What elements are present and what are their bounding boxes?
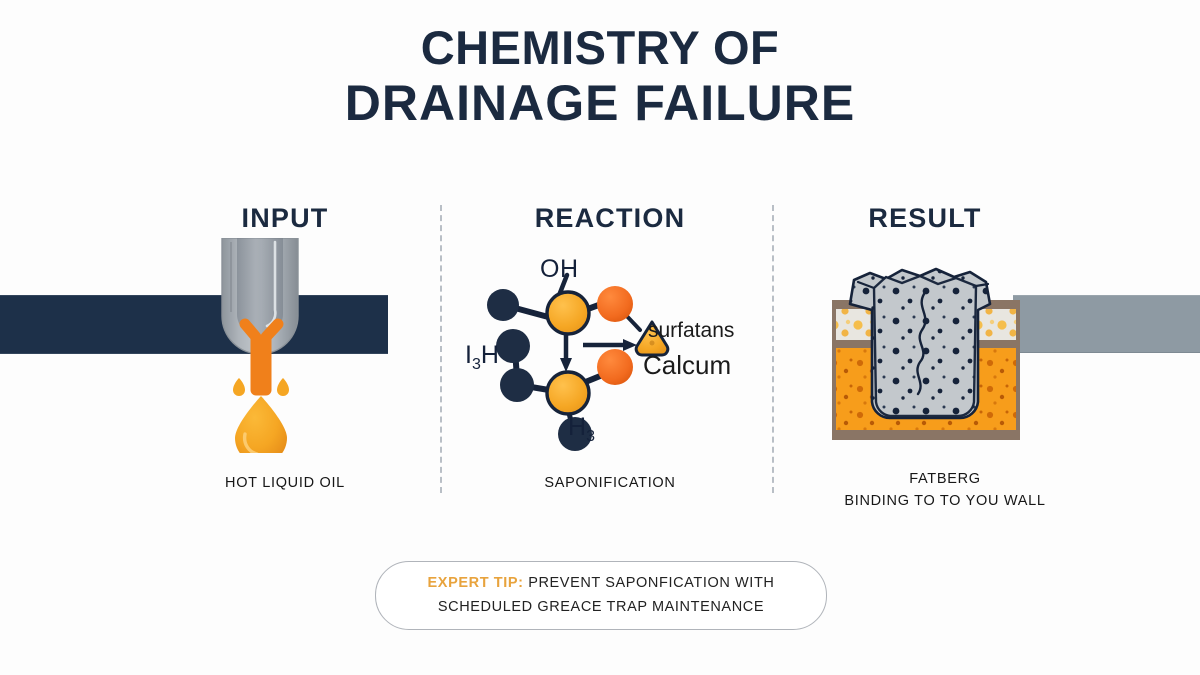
column-divider-2: [772, 205, 774, 493]
expert-tip-text: EXPERT TIP: PREVENT SAPONFICATION WITH S…: [402, 572, 801, 620]
infographic-canvas: CHEMISTRY OF DRAINAGE FAILURE INPUT REAC…: [0, 0, 1200, 675]
label-bottom-chain: H3: [568, 413, 595, 446]
column-divider-1: [440, 205, 442, 493]
molecule-node-dark: [496, 329, 530, 363]
expert-tip-label: EXPERT TIP:: [428, 575, 524, 591]
caption-result-line-2: BINDING TO TO YOU WALL: [820, 490, 1070, 512]
label-calcium: Calcum: [643, 350, 731, 381]
title-line-1: CHEMISTRY OF: [421, 21, 780, 74]
pipe-dripping-oil-icon: [193, 238, 413, 453]
caption-result-line-1: FATBERG: [820, 468, 1070, 490]
molecule-node-dark: [487, 289, 519, 321]
label-surfactants: surfatans: [648, 319, 734, 343]
molecule-node-orange: [597, 286, 633, 322]
column-header-input: INPUT: [185, 203, 385, 234]
label-hydroxyl: OH: [540, 255, 579, 284]
expert-tip-line-1: PREVENT SAPONFICATION WITH: [524, 575, 775, 591]
expert-tip-line-2: SCHEDULED GREACE TRAP MAINTENANCE: [438, 599, 764, 615]
molecule-node-amber: [547, 372, 589, 414]
caption-input: HOT LIQUID OIL: [175, 472, 395, 494]
grey-pipe-band: [1013, 295, 1200, 353]
column-header-result: RESULT: [840, 203, 1010, 234]
page-title: CHEMISTRY OF DRAINAGE FAILURE: [0, 22, 1200, 131]
caption-reaction: SAPONIFICATION: [495, 472, 725, 494]
molecule-diagram-icon: OH I3H H3 surfatans Calcum: [455, 250, 755, 460]
column-header-reaction: REACTION: [500, 203, 720, 234]
molecule-node-amber: [547, 292, 589, 334]
expert-tip-banner: EXPERT TIP: PREVENT SAPONFICATION WITH S…: [375, 561, 827, 630]
molecule-node-orange: [597, 349, 633, 385]
molecule-node-dark: [500, 368, 534, 402]
title-line-2: DRAINAGE FAILURE: [0, 75, 1200, 131]
caption-result: FATBERG BINDING TO TO YOU WALL: [820, 468, 1070, 513]
fatberg-cross-section-icon: [828, 252, 1024, 448]
label-left-chain: I3H: [465, 341, 499, 374]
